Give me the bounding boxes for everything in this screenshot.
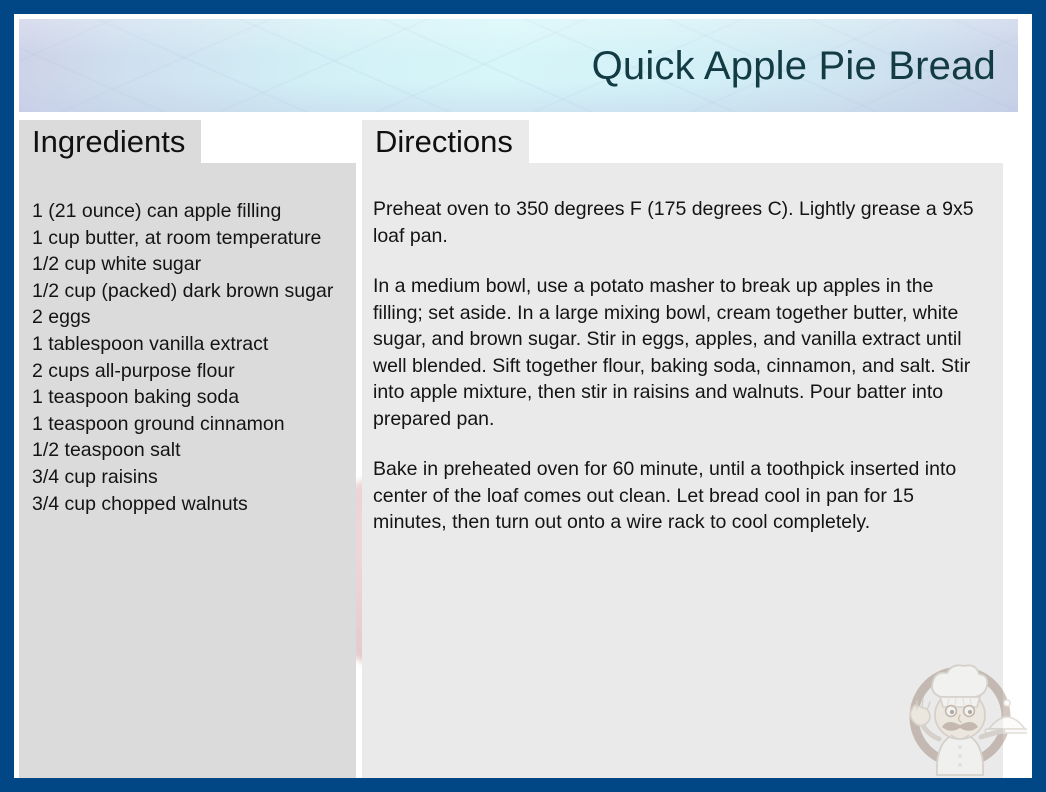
directions-body: Preheat oven to 350 degrees F (175 degre… xyxy=(362,163,1003,778)
list-item: 2 cups all-purpose flour xyxy=(32,358,346,385)
ingredients-panel: Ingredients 1 (21 ounce) can apple filli… xyxy=(19,163,356,778)
page-title: Quick Apple Pie Bread xyxy=(592,46,996,86)
list-item: 1/2 cup white sugar xyxy=(32,251,346,278)
directions-heading: Directions xyxy=(362,120,529,163)
ingredients-body: 1 (21 ounce) can apple filling 1 cup but… xyxy=(19,163,356,778)
slide-border-bottom xyxy=(0,778,1046,792)
list-item: 1 teaspoon baking soda xyxy=(32,384,346,411)
slide-border-top xyxy=(0,0,1046,14)
header-banner: Quick Apple Pie Bread xyxy=(19,19,1018,112)
ingredients-heading: Ingredients xyxy=(19,120,201,163)
list-item: 2 eggs xyxy=(32,304,346,331)
slide-border-right xyxy=(1032,0,1046,792)
directions-panel: Directions Preheat oven to 350 degrees F… xyxy=(362,163,1003,778)
list-item: 3/4 cup raisins xyxy=(32,464,346,491)
directions-paragraph: In a medium bowl, use a potato masher to… xyxy=(373,273,981,432)
list-item: 1/2 cup (packed) dark brown sugar xyxy=(32,278,346,305)
list-item: 1 tablespoon vanilla extract xyxy=(32,331,346,358)
slide-border-left xyxy=(0,0,14,792)
list-item: 3/4 cup chopped walnuts xyxy=(32,491,346,518)
list-item: 1 (21 ounce) can apple filling xyxy=(32,198,346,225)
directions-paragraph: Preheat oven to 350 degrees F (175 degre… xyxy=(373,196,981,249)
directions-paragraph: Bake in preheated oven for 60 minute, un… xyxy=(373,456,981,536)
list-item: 1 teaspoon ground cinnamon xyxy=(32,411,346,438)
ingredients-list: 1 (21 ounce) can apple filling 1 cup but… xyxy=(32,198,346,517)
recipe-slide: Quick Apple Pie Bread xyxy=(0,0,1046,792)
list-item: 1 cup butter, at room temperature xyxy=(32,225,346,252)
list-item: 1/2 teaspoon salt xyxy=(32,437,346,464)
